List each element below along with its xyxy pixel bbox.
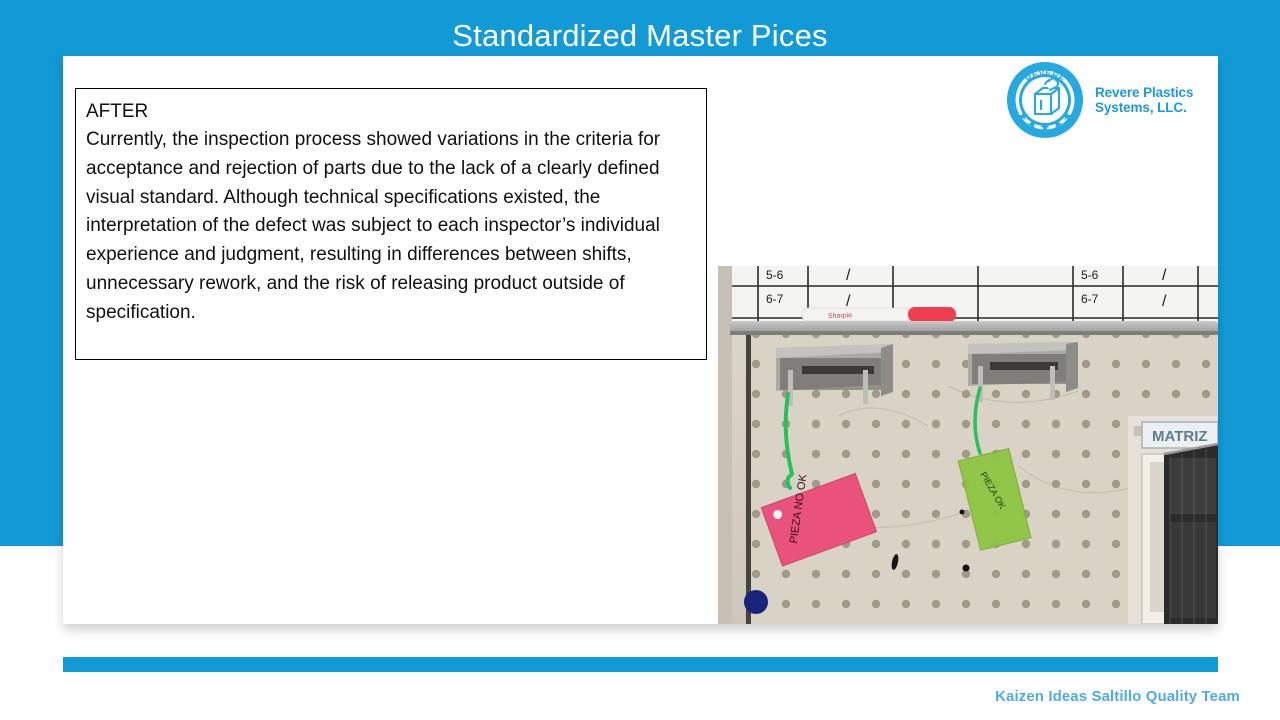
svg-text:/: / [1162, 293, 1167, 310]
footer-label: Kaizen Ideas Saltillo Quality Team [995, 688, 1240, 705]
textbox-body: Currently, the inspection process showed… [86, 126, 694, 328]
workstation-photo: 5-6 6-7 5-6 6-7 / / / / Sharpie [718, 266, 1218, 624]
company-name-line1: Revere Plastics [1095, 85, 1193, 100]
company-name: Revere Plastics Systems, LLC. [1095, 85, 1193, 115]
svg-text:/: / [1162, 267, 1167, 284]
textbox-heading: AFTER [86, 97, 694, 126]
svg-text:/: / [846, 293, 851, 310]
page-title: Standardized Master Pices [0, 16, 1280, 56]
company-logo: REVERE Revere Plastics Systems, L [1005, 60, 1210, 140]
company-name-line2: Systems, LLC. [1095, 100, 1187, 115]
after-description-textbox: AFTER Currently, the inspection process … [75, 88, 707, 360]
svg-text:6-7: 6-7 [766, 292, 784, 306]
svg-text:MATRIZ: MATRIZ [1152, 428, 1208, 445]
svg-text:Sharpie: Sharpie [828, 312, 852, 320]
svg-text:5-6: 5-6 [766, 268, 784, 282]
svg-text:/: / [846, 267, 851, 284]
svg-text:6-7: 6-7 [1081, 292, 1099, 306]
revere-emblem-icon: REVERE [1005, 60, 1085, 140]
svg-text:5-6: 5-6 [1081, 268, 1099, 282]
footer-accent-bar [63, 657, 1218, 672]
